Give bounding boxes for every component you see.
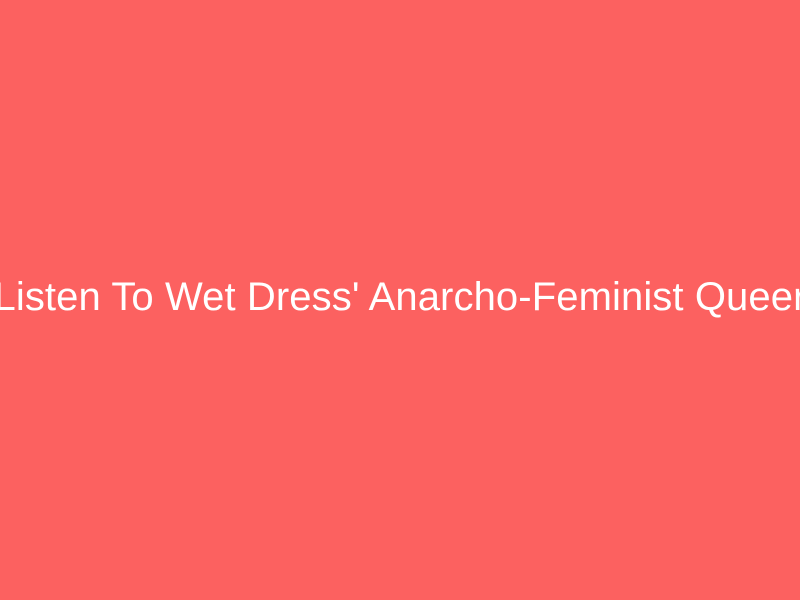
headline-title: Listen To Wet Dress' Anarcho-Feminist Qu… (0, 272, 800, 322)
headline-card: Listen To Wet Dress' Anarcho-Feminist Qu… (0, 0, 800, 600)
